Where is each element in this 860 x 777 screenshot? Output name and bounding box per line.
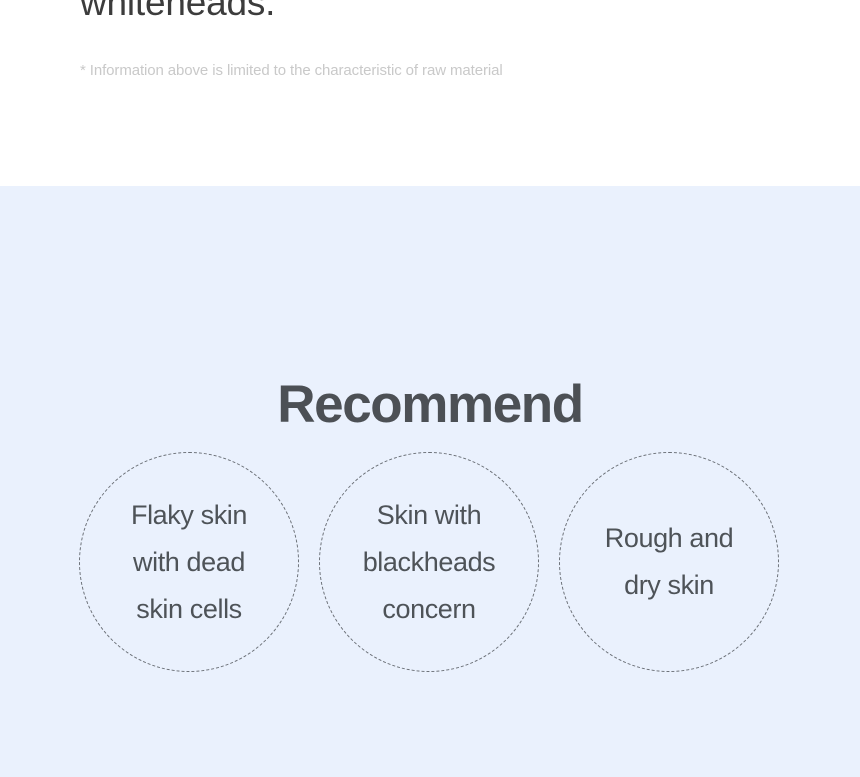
intro-footnote: * Information above is limited to the ch… (80, 60, 503, 82)
recommend-circle-label-line: Skin with (334, 492, 524, 539)
recommend-circle-label-line: with dead (94, 539, 284, 586)
recommend-circle-label: Rough and dry skin (574, 515, 764, 609)
recommend-circle-flaky-skin: Flaky skin with dead skin cells (79, 452, 299, 672)
product-detail-page: whiteheads. * Information above is limit… (0, 0, 860, 777)
recommend-circle-blackheads: Skin with blackheads concern (319, 452, 539, 672)
recommend-circle-label-line: dry skin (574, 562, 764, 609)
recommend-circle-row: Flaky skin with dead skin cells Skin wit… (0, 452, 860, 674)
recommend-section: Recommend Flaky skin with dead skin cell… (0, 186, 860, 777)
recommend-circle-rough-dry-skin: Rough and dry skin (559, 452, 779, 672)
recommend-circle-label-line: Flaky skin (94, 492, 284, 539)
recommend-circle-label-line: Rough and (574, 515, 764, 562)
recommend-circle-label: Skin with blackheads concern (334, 492, 524, 633)
recommend-circle-label-line: blackheads (334, 539, 524, 586)
recommend-circle-label: Flaky skin with dead skin cells (94, 492, 284, 633)
recommend-circle-label-line: concern (334, 586, 524, 633)
intro-section: whiteheads. * Information above is limit… (0, 0, 860, 186)
recommend-circle-label-line: skin cells (94, 586, 284, 633)
recommend-title: Recommend (0, 374, 860, 436)
intro-heading: whiteheads. (80, 0, 275, 28)
